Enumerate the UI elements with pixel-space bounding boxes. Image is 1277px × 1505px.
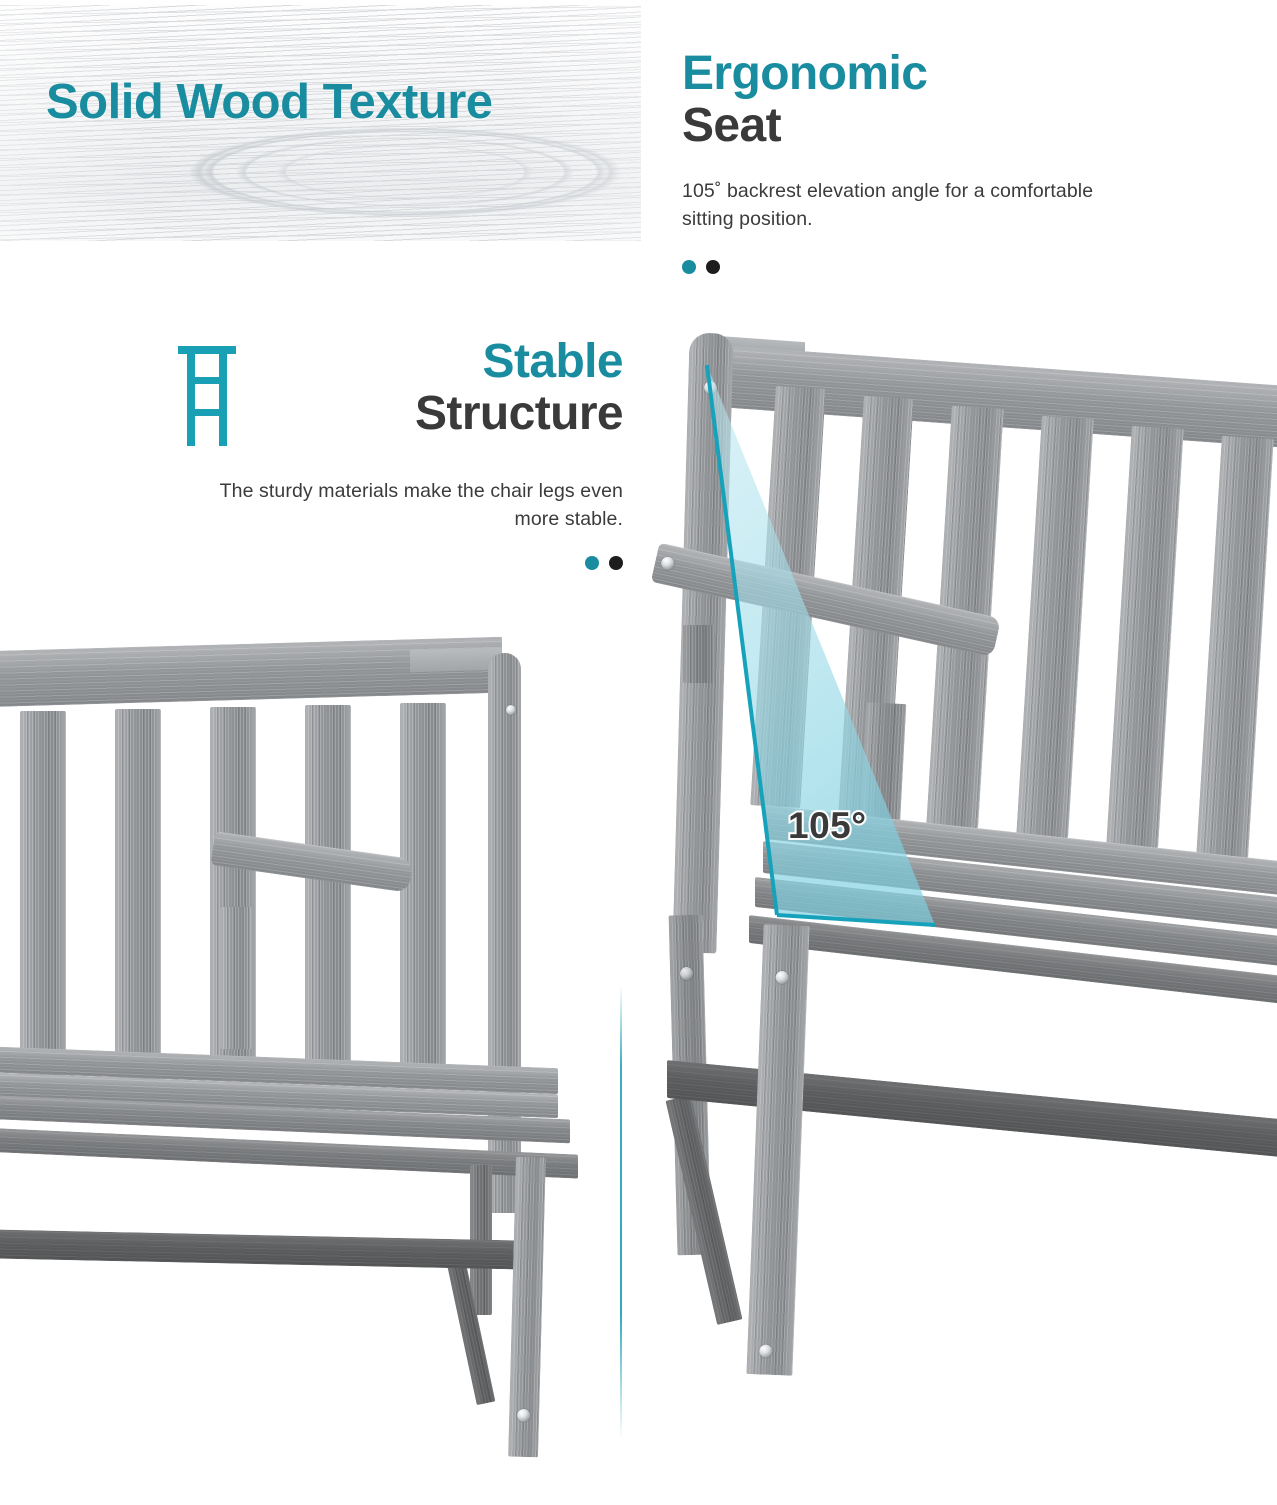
bench-left-top-rail	[0, 637, 502, 707]
ergonomic-title-accent: Ergonomic	[682, 48, 1102, 100]
bench-left-back-slat	[20, 711, 66, 1081]
dot-dark-icon	[706, 260, 720, 274]
dot-dark-icon	[609, 556, 623, 570]
bolt-icon	[775, 971, 788, 984]
feature-stable-structure: Stable Structure The sturdy materials ma…	[176, 336, 623, 570]
bench-left-stretcher	[0, 1229, 536, 1270]
bench-left-back-slat	[305, 705, 351, 1075]
stable-title-dark: Structure	[415, 388, 623, 441]
ergonomic-body-text: 105˚ backrest elevation angle for a comf…	[682, 177, 1102, 234]
stable-titles: Stable Structure	[415, 336, 623, 441]
bench-right-back-slat	[1106, 426, 1184, 848]
bolt-icon	[506, 705, 516, 715]
bench-left-front-leg	[508, 1157, 546, 1458]
feature-ergonomic-seat: Ergonomic Seat 105˚ backrest elevation a…	[682, 48, 1102, 274]
dot-teal-icon	[585, 556, 599, 570]
ergonomic-dots	[682, 260, 1102, 274]
bench-right-image	[645, 325, 1277, 1500]
bolt-icon	[660, 556, 676, 572]
stable-title-accent: Stable	[415, 336, 623, 388]
bolt-icon	[517, 1409, 530, 1422]
backrest-angle-label: 105°	[788, 805, 867, 847]
bench-right-arm-bracket	[683, 625, 715, 683]
bench-left-back-slat	[400, 703, 446, 1073]
wood-texture-title: Solid Wood Texture	[46, 74, 493, 130]
bench-left-arm-post	[220, 907, 252, 1049]
bench-right-front-leg	[746, 924, 809, 1375]
teal-vertical-divider	[620, 985, 622, 1440]
stool-frame-icon	[176, 344, 238, 453]
ergonomic-title-dark: Seat	[682, 100, 1102, 153]
bench-right-back-slat	[1196, 436, 1274, 858]
bolt-icon	[704, 381, 717, 394]
infographic-canvas: Solid Wood Texture Ergonomic Seat 105˚ b…	[0, 0, 1277, 1500]
bench-right-back-slat	[1016, 416, 1094, 838]
stable-body-text: The sturdy materials make the chair legs…	[176, 477, 623, 534]
stable-dots	[176, 556, 623, 570]
stable-heading-row: Stable Structure	[176, 336, 623, 453]
bench-left-image	[0, 645, 650, 1500]
dot-teal-icon	[682, 260, 696, 274]
bench-left-back-slat	[115, 709, 161, 1079]
bolt-icon	[680, 967, 693, 980]
bolt-icon	[759, 1344, 772, 1357]
